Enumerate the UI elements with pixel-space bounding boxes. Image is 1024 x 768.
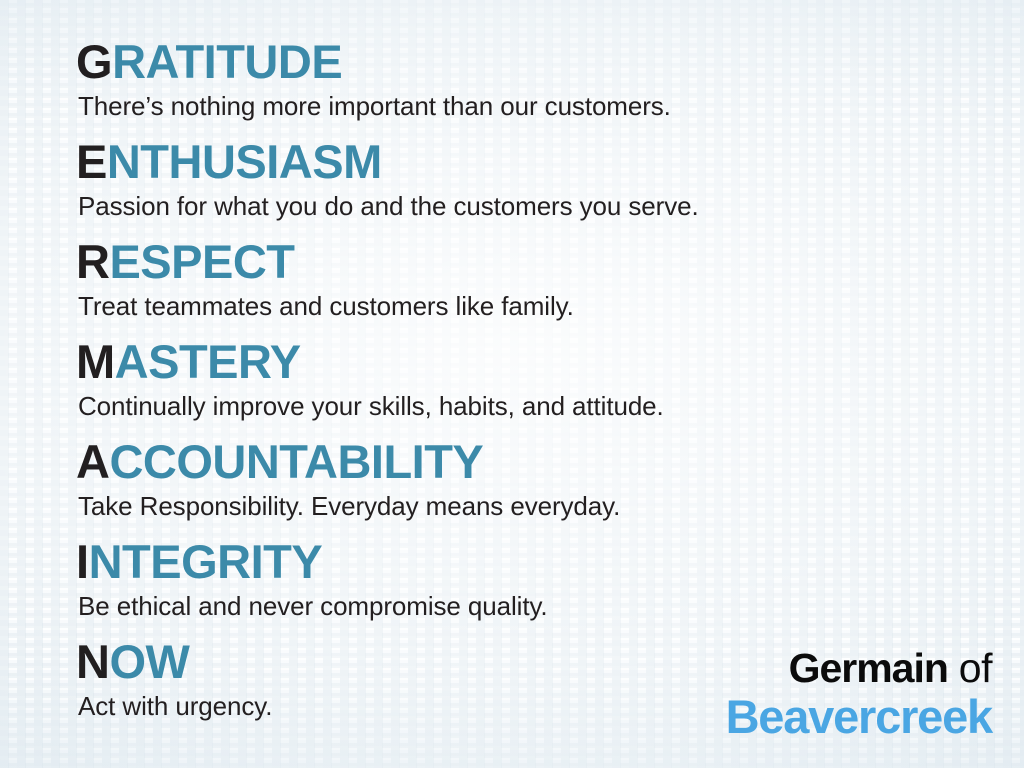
- value-heading-remainder: CCOUNTABILITY: [109, 435, 483, 488]
- value-heading-accountability: ACCOUNTABILITY: [76, 436, 1006, 488]
- value-description-mastery: Continually improve your skills, habits,…: [78, 389, 1006, 423]
- value-heading-remainder: RATITUDE: [112, 35, 342, 88]
- core-values-poster: GRATITUDE There’s nothing more important…: [0, 0, 1024, 768]
- value-heading-remainder: ASTERY: [115, 335, 301, 388]
- value-initial-letter: E: [76, 135, 107, 188]
- values-list: GRATITUDE There’s nothing more important…: [76, 36, 1006, 736]
- value-description-respect: Treat teammates and customers like famil…: [78, 289, 1006, 323]
- value-heading-remainder: NTHUSIASM: [107, 135, 382, 188]
- logo-location-name: Beavercreek: [726, 692, 992, 742]
- value-heading-remainder: OW: [109, 635, 189, 688]
- value-block-gratitude: GRATITUDE There’s nothing more important…: [76, 36, 1006, 136]
- value-initial-letter: N: [76, 635, 109, 688]
- value-heading-integrity: INTEGRITY: [76, 536, 1006, 588]
- value-description-gratitude: There’s nothing more important than our …: [78, 89, 1006, 123]
- logo-primary-line: Germain of: [726, 646, 992, 690]
- value-heading-mastery: MASTERY: [76, 336, 1006, 388]
- value-heading-gratitude: GRATITUDE: [76, 36, 1006, 88]
- value-block-integrity: INTEGRITY Be ethical and never compromis…: [76, 536, 1006, 636]
- value-initial-letter: A: [76, 435, 109, 488]
- value-initial-letter: M: [76, 335, 115, 388]
- value-initial-letter: G: [76, 35, 112, 88]
- value-block-accountability: ACCOUNTABILITY Take Responsibility. Ever…: [76, 436, 1006, 536]
- dealership-logo: Germain of Beavercreek: [726, 646, 992, 742]
- value-description-integrity: Be ethical and never compromise quality.: [78, 589, 1006, 623]
- value-block-enthusiasm: ENTHUSIASM Passion for what you do and t…: [76, 136, 1006, 236]
- value-initial-letter: I: [76, 535, 89, 588]
- value-block-respect: RESPECT Treat teammates and customers li…: [76, 236, 1006, 336]
- value-heading-remainder: NTEGRITY: [89, 535, 323, 588]
- value-heading-remainder: ESPECT: [109, 235, 294, 288]
- value-heading-respect: RESPECT: [76, 236, 1006, 288]
- value-description-enthusiasm: Passion for what you do and the customer…: [78, 189, 1006, 223]
- value-description-accountability: Take Responsibility. Everyday means ever…: [78, 489, 1006, 523]
- logo-connector-word: of: [948, 645, 992, 691]
- logo-brand-name: Germain: [789, 645, 948, 691]
- value-initial-letter: R: [76, 235, 109, 288]
- value-heading-enthusiasm: ENTHUSIASM: [76, 136, 1006, 188]
- value-block-mastery: MASTERY Continually improve your skills,…: [76, 336, 1006, 436]
